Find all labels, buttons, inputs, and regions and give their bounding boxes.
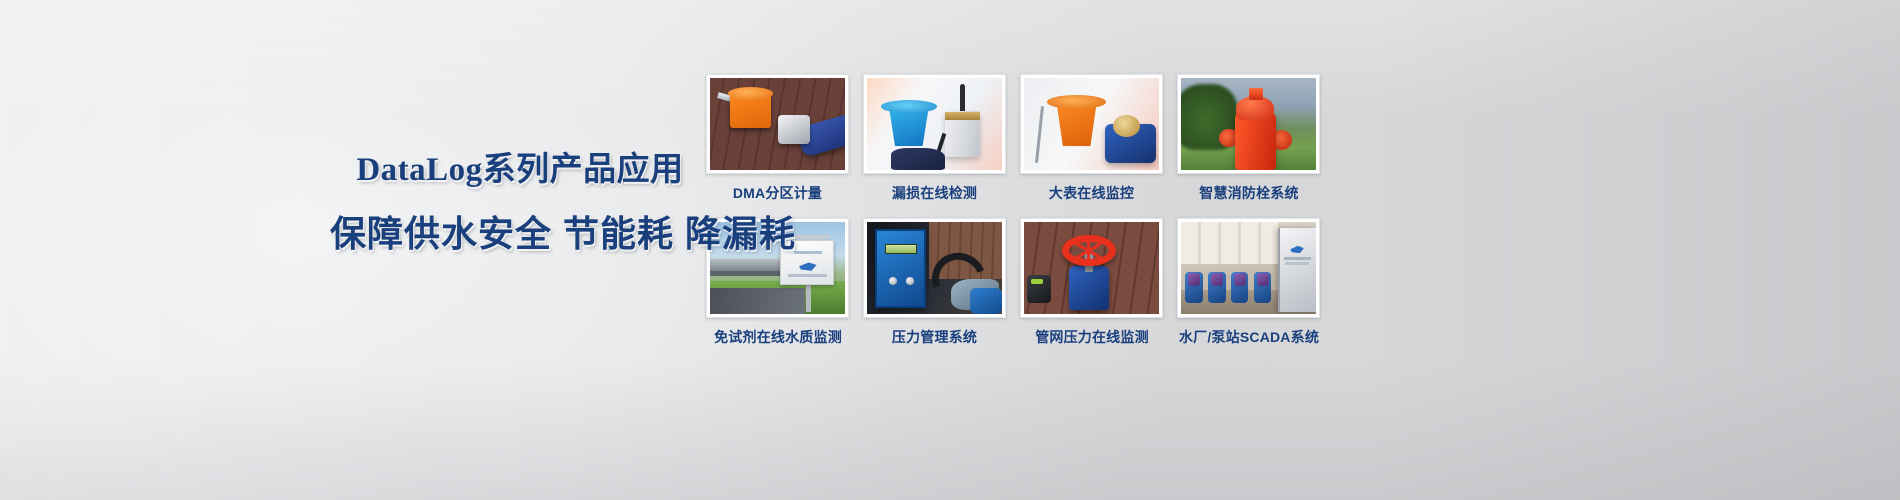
hexagon-watermark-icon [90,300,390,500]
gallery-item[interactable]: 智慧消防栓系统 [1177,74,1320,203]
thumbnail-frame[interactable] [1020,74,1163,174]
promo-banner: DataLog系列产品应用 保障供水安全 节能耗 降漏耗 DMA分区计量 [0,0,1900,500]
product-application-gallery: DMA分区计量 漏损在线检测 [706,74,1320,347]
thumbnail-frame[interactable] [863,74,1006,174]
headline-line-1: DataLog系列产品应用 [330,150,710,190]
banner-headline: DataLog系列产品应用 保障供水安全 节能耗 降漏耗 [330,150,710,256]
dma-metering-photo [710,78,845,170]
thumbnail-frame[interactable] [1177,74,1320,174]
gallery-item-caption: 智慧消防栓系统 [1149,183,1349,203]
thumbnail-frame[interactable] [1020,218,1163,318]
hexagon-watermark-icon [0,40,280,470]
gallery-item[interactable]: 大表在线监控 [1020,74,1163,203]
gallery-row: DMA分区计量 漏损在线检测 [706,74,1320,203]
gallery-item[interactable]: 压力管理系统 [863,218,1006,347]
thumbnail-frame[interactable] [863,218,1006,318]
headline-line-2: 保障供水安全 节能耗 降漏耗 [330,212,710,256]
gallery-item[interactable]: 漏损在线检测 [863,74,1006,203]
gallery-row: 免试剂在线水质监测 压力管理系统 [706,218,1320,347]
leak-detection-photo [867,78,1002,170]
gallery-item-caption: 水厂/泵站SCADA系统 [1149,327,1349,347]
pipe-pressure-photo [1024,222,1159,314]
gallery-item-caption: 免试剂在线水质监测 [678,327,878,347]
gallery-item[interactable]: DMA分区计量 [706,74,849,203]
gallery-item[interactable]: 管网压力在线监测 [1020,218,1163,347]
smart-hydrant-photo [1181,78,1316,170]
gallery-item-caption: 压力管理系统 [863,327,1006,347]
gallery-item-caption: 大表在线监控 [1020,183,1163,203]
thumbnail-frame[interactable] [706,74,849,174]
pressure-management-photo [867,222,1002,314]
scada-pump-station-photo [1181,222,1316,314]
gallery-item-caption: DMA分区计量 [706,183,849,203]
gallery-item[interactable]: 水厂/泵站SCADA系统 [1177,218,1320,347]
gallery-item-caption: 漏损在线检测 [863,183,1006,203]
thumbnail-frame[interactable] [1177,218,1320,318]
large-meter-monitoring-photo [1024,78,1159,170]
hexagon-watermark-icon [0,0,200,125]
